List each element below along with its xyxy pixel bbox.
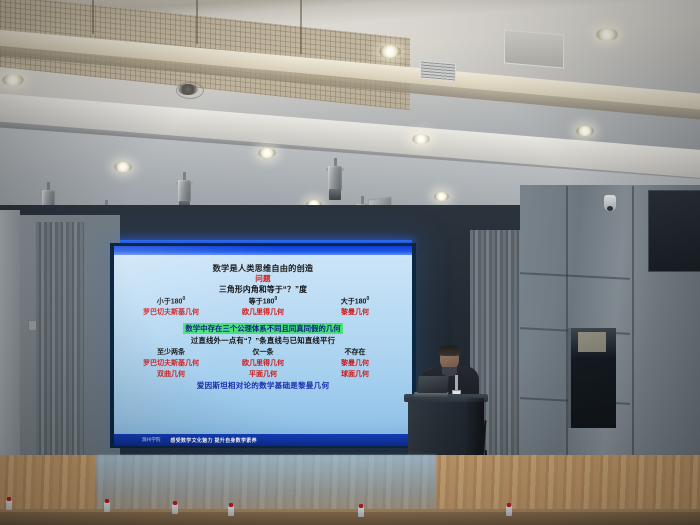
geometry-cell: 双曲几何 (129, 369, 213, 379)
stage-screen-reflection (96, 455, 436, 517)
slide-highlight-statement: 数学中存在三个公理体系不同且同真同假的几何 (183, 323, 342, 334)
geometry-row-1: 罗巴切夫斯基几何 欧几里得几何 黎曼几何 (114, 307, 412, 317)
downlight-icon (379, 45, 401, 58)
downlight-icon (576, 126, 594, 136)
stage-curtain-left (36, 222, 84, 462)
speaker-hair (438, 345, 461, 356)
downlight-ring (176, 82, 204, 99)
geometry-cell: 球面几何 (313, 369, 397, 379)
banner-slogan: 感受数学文化魅力 提升自身数学素养 (160, 437, 257, 444)
panel-seam (196, 0, 198, 44)
angle-sup: 0 (182, 296, 185, 302)
downlight-icon (2, 74, 24, 86)
downlight-icon (114, 162, 132, 172)
laptop-screen (417, 376, 448, 393)
angle-row: 小于1800 等于1800 大于1800 (114, 296, 412, 306)
water-bottle (358, 507, 364, 517)
water-bottle (172, 504, 178, 514)
ceiling-access-panel (504, 29, 564, 68)
banner-organization: 滁州学院 (114, 437, 160, 443)
stage-spotlight (178, 172, 191, 208)
geometry-row-2: 罗巴切夫斯基几何 欧几里得几何 黎曼几何 (114, 358, 412, 368)
projection-screen: 数学是人类思维自由的创造 问题 三角形内角和等于“？”度 小于1800 等于18… (114, 246, 412, 445)
water-bottle (506, 506, 512, 516)
geometry-cell: 罗巴切夫斯基几何 (129, 307, 213, 317)
recess-light (578, 332, 606, 352)
geometry-row-3: 双曲几何 平面几何 球面几何 (114, 369, 412, 379)
ceiling-hvac-unit (648, 190, 700, 272)
downlight-icon (412, 134, 430, 144)
hvac-vent (420, 60, 456, 81)
downlight-icon (258, 148, 276, 158)
angle-cell: 大于1800 (313, 296, 397, 306)
count-cell: 至少两条 (129, 347, 213, 357)
water-bottle (6, 500, 12, 510)
slide-parallel-question: 过直线外一点有“？”条直线与已知直线平行 (114, 337, 412, 346)
geometry-cell: 黎曼几何 (313, 358, 397, 368)
count-cell: 不存在 (313, 347, 397, 357)
security-camera-icon (604, 195, 616, 211)
angle-text: 大于180 (341, 298, 367, 305)
stage-front-edge (0, 512, 700, 525)
geometry-cell: 欧几里得几何 (221, 307, 305, 317)
angle-text: 小于180 (157, 298, 183, 305)
slide-question-label: 问题 (114, 275, 412, 284)
geometry-cell: 平面几何 (221, 369, 305, 379)
slide-conclusion: 爱因斯坦相对论的数学基础是黎曼几何 (114, 382, 412, 391)
water-bottle (104, 502, 110, 512)
angle-text: 等于180 (249, 298, 275, 305)
angle-cell: 等于1800 (221, 296, 305, 306)
geometry-cell: 罗巴切夫斯基几何 (129, 358, 213, 368)
count-cell: 仅一条 (221, 347, 305, 357)
slide-title: 数学是人类思维自由的创造 (114, 264, 412, 274)
water-bottle (228, 506, 234, 516)
geometry-cell: 黎曼几何 (313, 307, 397, 317)
count-row: 至少两条 仅一条 不存在 (114, 347, 412, 357)
slide-question: 三角形内角和等于“？”度 (114, 285, 412, 294)
panel-seam (92, 0, 94, 34)
geometry-cell: 欧几里得几何 (221, 358, 305, 368)
lecture-hall-photo: 数学是人类思维自由的创造 问题 三角形内角和等于“？”度 小于1800 等于18… (0, 0, 700, 525)
lanyard (455, 375, 458, 391)
slide-top-bar (114, 246, 412, 255)
downlight-icon (596, 28, 618, 41)
presentation-slide: 数学是人类思维自由的创造 问题 三角形内角和等于“？”度 小于1800 等于18… (114, 258, 412, 445)
left-wall-edge (0, 210, 20, 490)
downlight-icon (434, 192, 449, 201)
panel-seam (300, 0, 302, 54)
event-banner: 滁州学院 感受数学文化魅力 提升自身数学素养 (114, 434, 412, 446)
stage-spotlight (328, 158, 342, 198)
angle-sup: 0 (274, 296, 277, 302)
panel-seam (632, 186, 634, 486)
angle-sup: 0 (366, 296, 369, 302)
angle-cell: 小于1800 (129, 296, 213, 306)
